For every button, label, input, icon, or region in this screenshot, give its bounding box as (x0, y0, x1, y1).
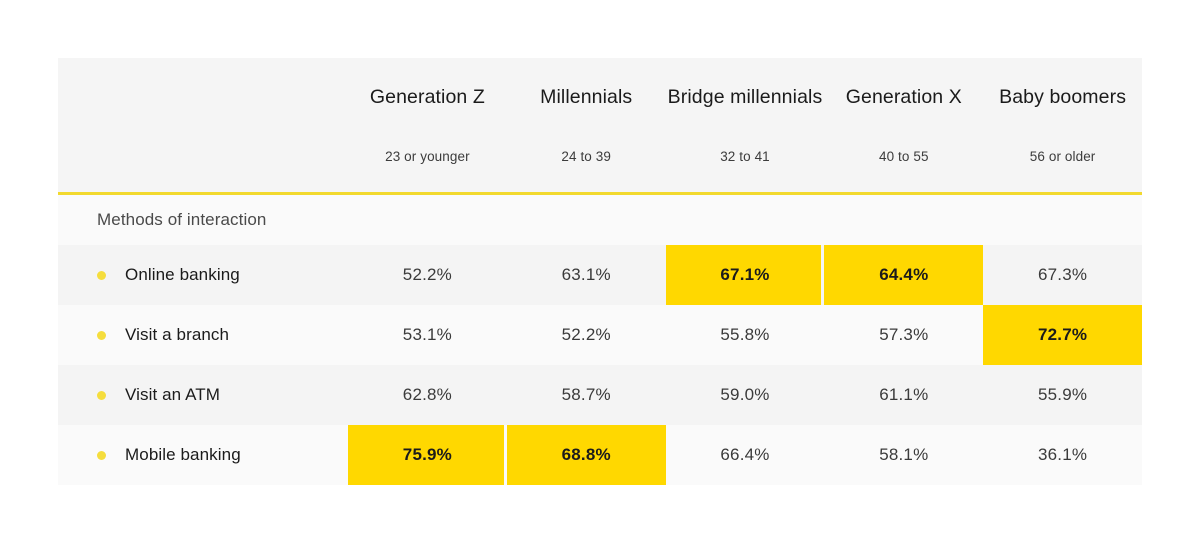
data-cell: 55.9% (983, 365, 1142, 425)
table-row: Visit an ATM 62.8% 58.7% 59.0% 61.1% 55.… (58, 365, 1142, 425)
cell-value: 62.8% (403, 385, 452, 405)
cell-value: 67.3% (1038, 265, 1087, 285)
data-cell: 59.0% (666, 365, 825, 425)
column-title: Millennials (540, 84, 632, 110)
bullet-icon (97, 271, 106, 280)
data-cell: 53.1% (348, 305, 507, 365)
data-cell: 52.2% (348, 245, 507, 305)
cell-value: 55.8% (720, 325, 769, 345)
cell-value: 75.9% (403, 445, 452, 465)
table-row: Visit a branch 53.1% 52.2% 55.8% 57.3% 7… (58, 305, 1142, 365)
cell-value: 52.2% (403, 265, 452, 285)
cell-value: 58.1% (879, 445, 928, 465)
bullet-icon (97, 391, 106, 400)
data-cell-highlighted: 68.8% (507, 425, 666, 485)
cell-value: 59.0% (720, 385, 769, 405)
bullet-icon (97, 331, 106, 340)
data-cell: 66.4% (666, 425, 825, 485)
column-header-generation-x: Generation X 40 to 55 (824, 58, 983, 192)
data-cell-highlighted: 75.9% (348, 425, 507, 485)
column-header-baby-boomers: Baby boomers 56 or older (983, 58, 1142, 192)
row-label: Visit a branch (125, 325, 229, 345)
cell-value: 53.1% (403, 325, 452, 345)
data-cell-highlighted: 72.7% (983, 305, 1142, 365)
cell-value: 52.2% (562, 325, 611, 345)
cell-value: 58.7% (562, 385, 611, 405)
column-subtitle: 24 to 39 (561, 149, 611, 192)
cell-value: 63.1% (562, 265, 611, 285)
cell-value: 68.8% (562, 445, 611, 465)
data-cell: 57.3% (824, 305, 983, 365)
row-label-cell: Visit an ATM (58, 365, 348, 425)
cell-value: 67.1% (720, 265, 769, 285)
row-label: Mobile banking (125, 445, 241, 465)
row-label-cell: Visit a branch (58, 305, 348, 365)
bullet-icon (97, 451, 106, 460)
table-row: Online banking 52.2% 63.1% 67.1% 64.4% 6… (58, 245, 1142, 305)
data-cell-highlighted: 67.1% (666, 245, 825, 305)
column-subtitle: 32 to 41 (720, 149, 770, 192)
column-title: Generation X (846, 84, 962, 110)
column-header-millennials: Millennials 24 to 39 (507, 58, 666, 192)
column-subtitle: 56 or older (1030, 149, 1096, 192)
data-cell: 55.8% (666, 305, 825, 365)
data-cell: 58.7% (507, 365, 666, 425)
data-cell: 52.2% (507, 305, 666, 365)
section-label: Methods of interaction (58, 210, 266, 230)
cell-value: 66.4% (720, 445, 769, 465)
column-title: Baby boomers (999, 84, 1126, 110)
table-header: Generation Z 23 or younger Millennials 2… (58, 58, 1142, 192)
row-label-cell: Mobile banking (58, 425, 348, 485)
cell-value: 57.3% (879, 325, 928, 345)
column-title: Bridge millennials (668, 84, 823, 110)
column-subtitle: 40 to 55 (879, 149, 929, 192)
cell-value: 61.1% (879, 385, 928, 405)
column-subtitle: 23 or younger (385, 149, 470, 192)
data-cell: 62.8% (348, 365, 507, 425)
column-header-bridge-millennials: Bridge millennials 32 to 41 (666, 58, 825, 192)
cell-value: 36.1% (1038, 445, 1087, 465)
column-title: Generation Z (370, 84, 485, 110)
section-header-row: Methods of interaction (58, 195, 1142, 245)
data-cell: 58.1% (824, 425, 983, 485)
column-header-generation-z: Generation Z 23 or younger (348, 58, 507, 192)
cell-value: 72.7% (1038, 325, 1087, 345)
data-cell: 61.1% (824, 365, 983, 425)
data-cell: 36.1% (983, 425, 1142, 485)
cell-value: 64.4% (879, 265, 928, 285)
data-cell: 63.1% (507, 245, 666, 305)
data-cell-highlighted: 64.4% (824, 245, 983, 305)
data-cell: 67.3% (983, 245, 1142, 305)
table-row: Mobile banking 75.9% 68.8% 66.4% 58.1% 3… (58, 425, 1142, 485)
row-label-cell: Online banking (58, 245, 348, 305)
cell-value: 55.9% (1038, 385, 1087, 405)
row-label: Visit an ATM (125, 385, 220, 405)
row-label: Online banking (125, 265, 240, 285)
header-corner-spacer (58, 58, 348, 192)
comparison-table: Generation Z 23 or younger Millennials 2… (58, 58, 1142, 485)
